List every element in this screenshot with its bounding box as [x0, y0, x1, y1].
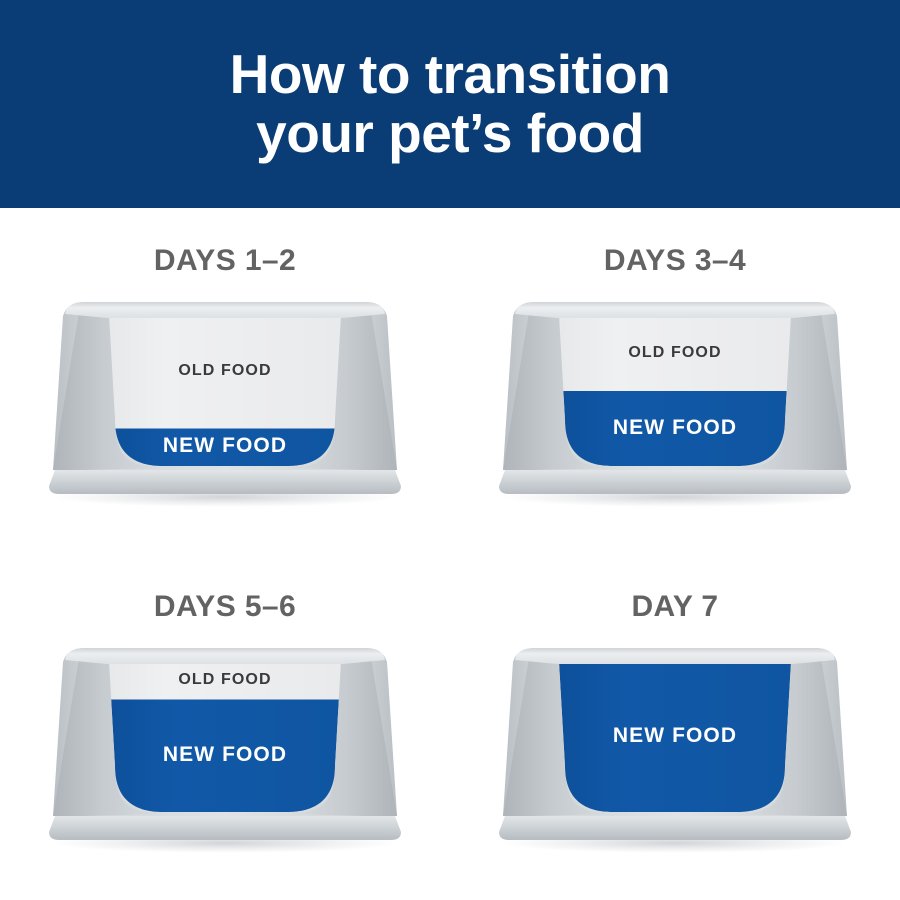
stage-label: DAY 7: [450, 590, 900, 624]
transition-panel-4: DAY 7NEW FOOD: [450, 554, 900, 900]
old-food-fill: [105, 312, 345, 429]
bowl-rim: [65, 302, 385, 318]
food-bowl: OLD FOODNEW FOOD: [47, 294, 403, 514]
food-area: [105, 312, 345, 474]
bowl-foot: [499, 470, 851, 494]
food-area: [105, 658, 345, 820]
old-food-fill: [105, 658, 345, 700]
bowl-foot: [499, 816, 851, 840]
new-food-fill: [105, 700, 345, 821]
old-food-fill: [555, 312, 795, 391]
transition-panel-3: DAYS 5–6OLD FOODNEW FOOD: [0, 554, 450, 900]
food-bowl: OLD FOODNEW FOOD: [497, 294, 853, 514]
food-bowl: NEW FOOD: [497, 640, 853, 860]
page-title: How to transition your pet’s food: [230, 45, 671, 163]
stage-label: DAYS 5–6: [0, 590, 450, 624]
stage-label: DAYS 3–4: [450, 244, 900, 278]
transition-panel-1: DAYS 1–2OLD FOODNEW FOOD: [0, 208, 450, 554]
header-banner: How to transition your pet’s food: [0, 0, 900, 208]
bowl-rim: [65, 648, 385, 664]
food-bowl-graphic: [497, 640, 853, 860]
new-food-fill: [555, 391, 795, 474]
food-bowl-graphic: [497, 294, 853, 514]
food-bowl-graphic: [47, 640, 403, 860]
bowl-rim: [515, 648, 835, 664]
food-area: [555, 662, 795, 820]
food-area: [555, 312, 795, 474]
new-food-fill: [555, 662, 795, 820]
bowl-foot: [49, 816, 401, 840]
stage-label: DAYS 1–2: [0, 244, 450, 278]
transition-stage-grid: DAYS 1–2OLD FOODNEW FOODDAYS 3–4OLD FOOD…: [0, 208, 900, 900]
food-bowl-graphic: [47, 294, 403, 514]
bowl-foot: [49, 470, 401, 494]
bowl-rim: [515, 302, 835, 318]
transition-panel-2: DAYS 3–4OLD FOODNEW FOOD: [450, 208, 900, 554]
food-bowl: OLD FOODNEW FOOD: [47, 640, 403, 860]
infographic-page: How to transition your pet’s food DAYS 1…: [0, 0, 900, 900]
